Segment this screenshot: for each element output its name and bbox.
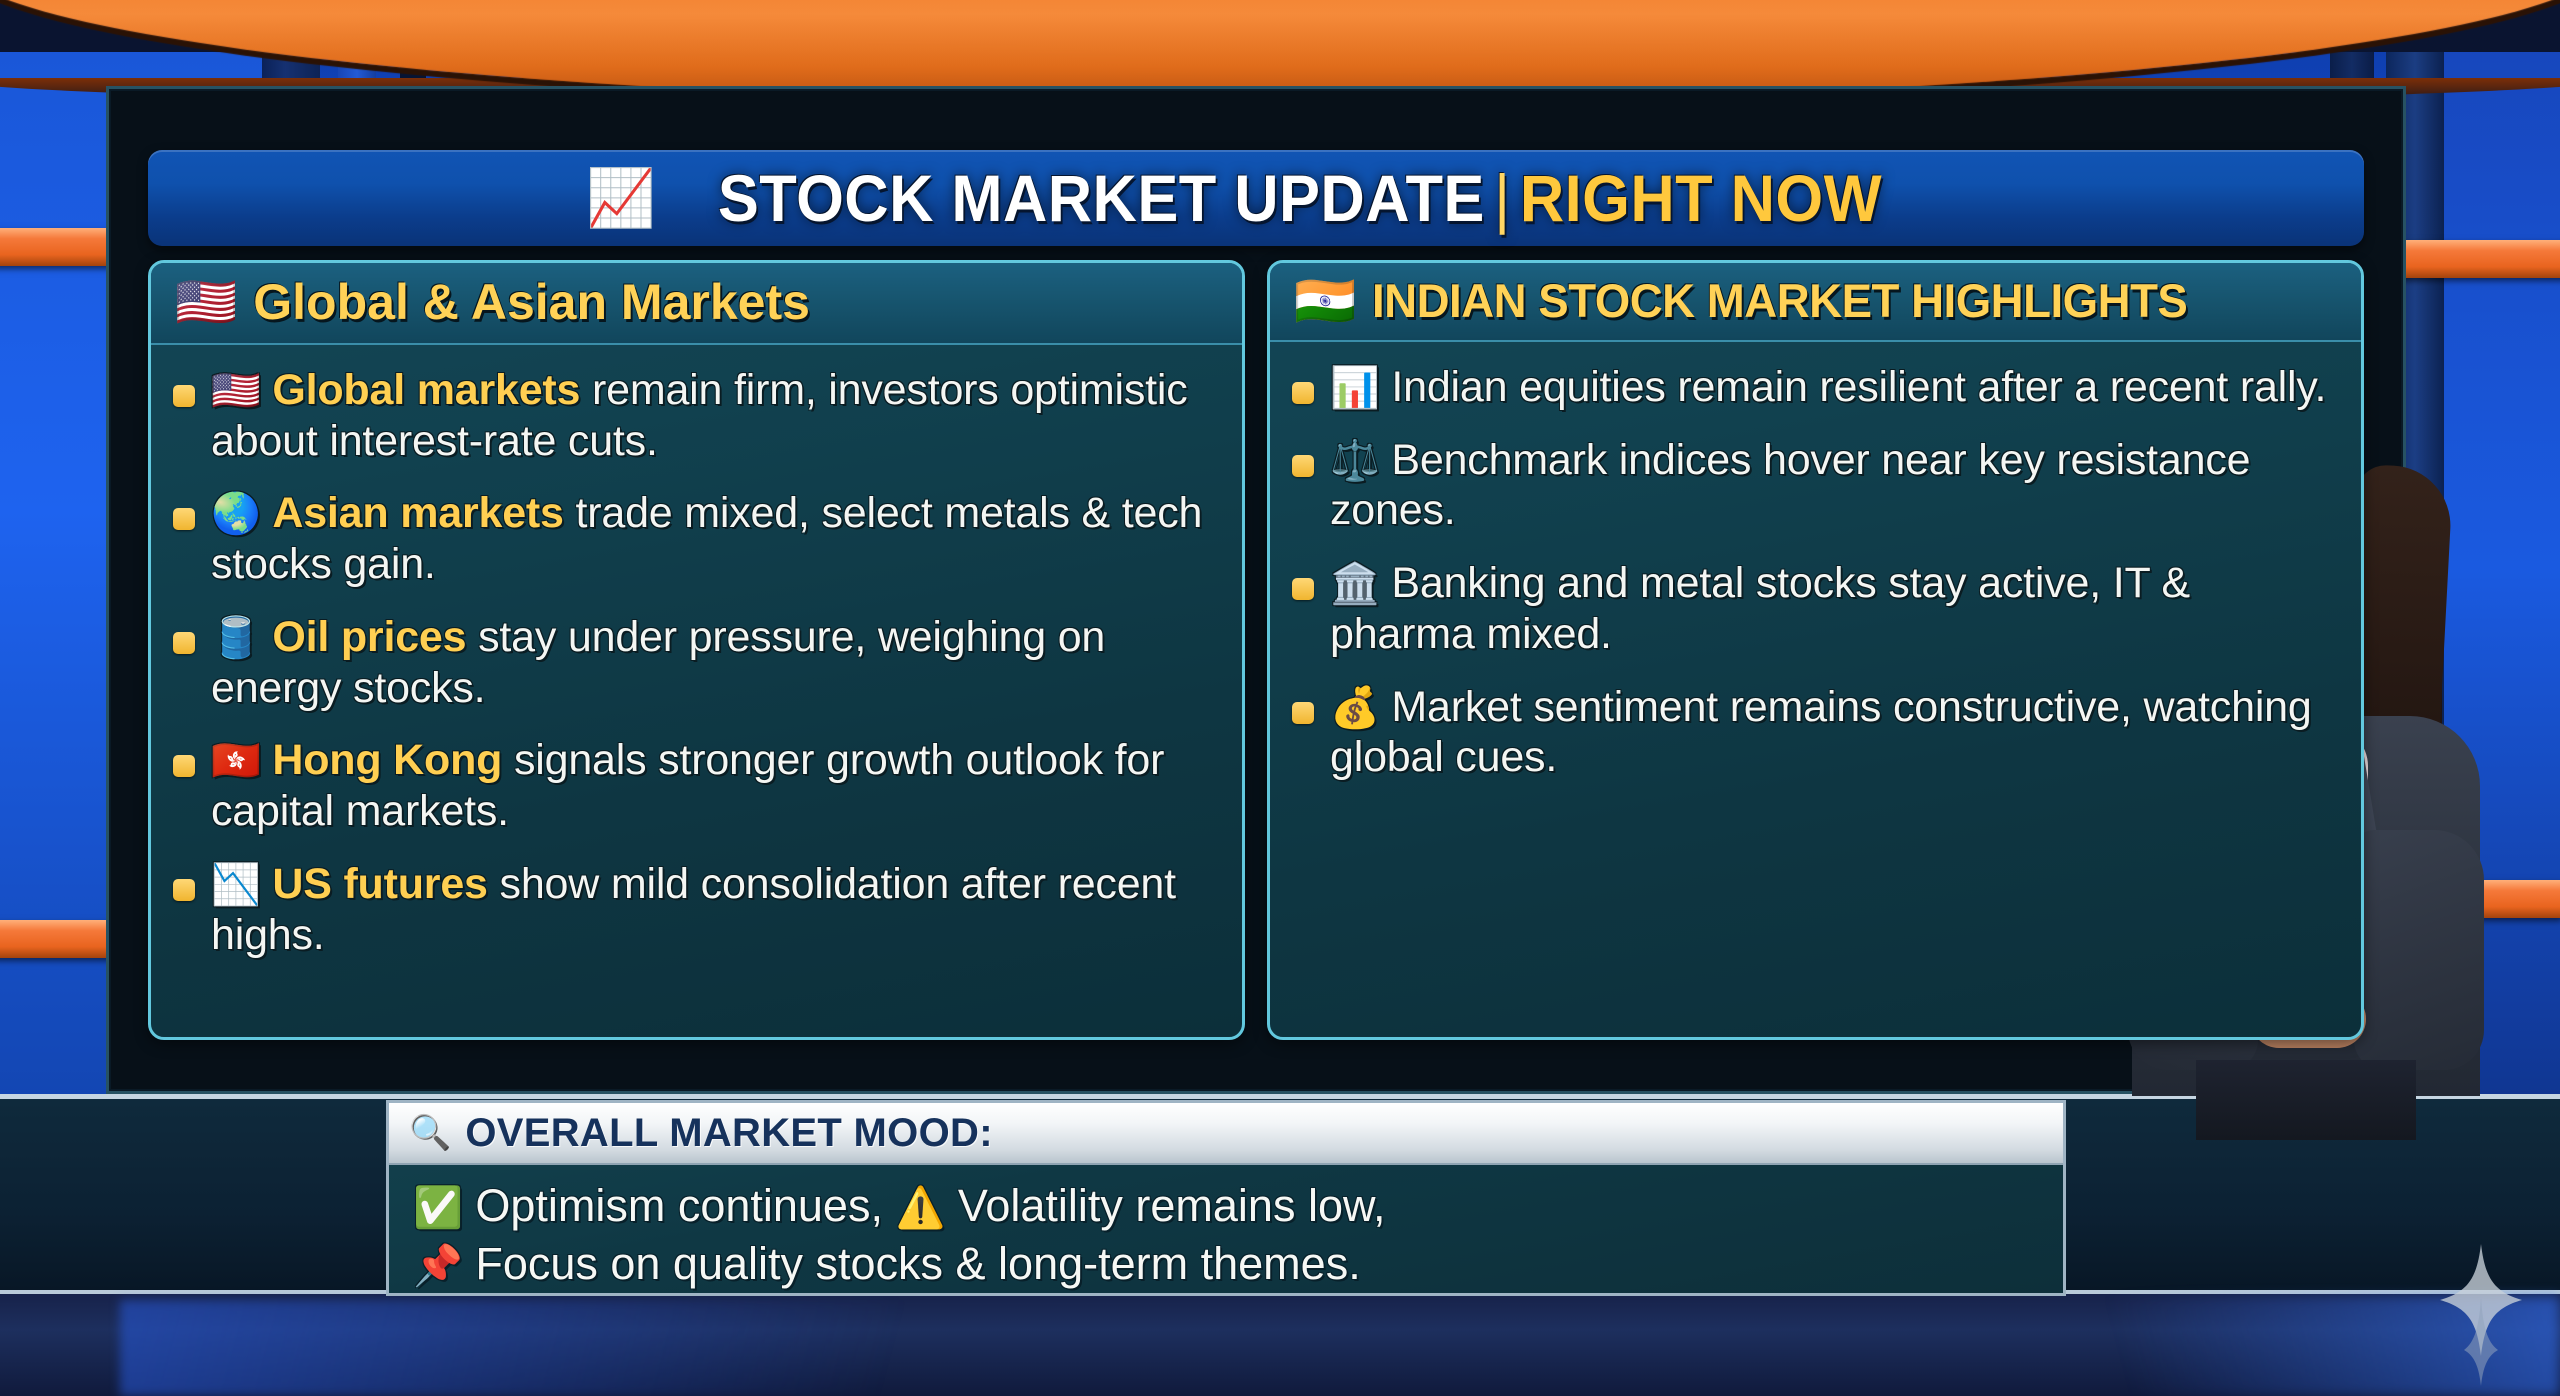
check-mark-icon: ✅ bbox=[413, 1186, 463, 1230]
bullet-marker bbox=[173, 508, 195, 530]
list-item-keyword: Asian markets bbox=[272, 489, 563, 537]
left-card-header: 🇺🇸 Global & Asian Markets bbox=[151, 263, 1242, 345]
bullet-marker bbox=[1292, 382, 1314, 404]
list-item-text: 💰 Market sentiment remains constructive,… bbox=[1330, 682, 2339, 783]
bullet-marker bbox=[173, 879, 195, 901]
right-card-header: 🇮🇳 INDIAN STOCK MARKET HIGHLIGHTS bbox=[1270, 263, 2361, 342]
list-item: ⚖️ Benchmark indices hover near key resi… bbox=[1292, 435, 2339, 536]
bar-chart-icon: 📊 bbox=[1330, 366, 1380, 410]
india-flag-icon: 🇮🇳 bbox=[1294, 276, 1356, 326]
hong-kong-flag-icon: 🇭🇰 bbox=[211, 739, 261, 783]
bullet-marker bbox=[173, 385, 195, 407]
bullet-marker bbox=[173, 755, 195, 777]
balance-scale-icon: ⚖️ bbox=[1330, 439, 1380, 483]
list-item: 📊 Indian equities remain resilient after… bbox=[1292, 362, 2339, 413]
floor-light-streak bbox=[120, 1300, 1220, 1396]
list-item-keyword: Hong Kong bbox=[272, 736, 502, 784]
list-item-text: 🌏 Asian markets trade mixed, select meta… bbox=[211, 488, 1220, 589]
list-item-text: 🛢️ Oil prices stay under pressure, weigh… bbox=[211, 612, 1220, 713]
stock-market-graphic: 📈 STOCK MARKET UPDATE|RIGHT NOW 🇺🇸 Globa… bbox=[140, 150, 2372, 1060]
mood-heading: OVERALL MARKET MOOD: bbox=[465, 1111, 992, 1156]
page-title: STOCK MARKET UPDATE|RIGHT NOW bbox=[718, 160, 1882, 236]
left-card-bullet-list: 🇺🇸 Global markets remain firm, investors… bbox=[151, 345, 1242, 992]
list-item: 🇺🇸 Global markets remain firm, investors… bbox=[173, 365, 1220, 466]
mood-header: 🔍 OVERALL MARKET MOOD: bbox=[389, 1103, 2063, 1165]
list-item-text: ⚖️ Benchmark indices hover near key resi… bbox=[1330, 435, 2339, 536]
graphic-columns: 🇺🇸 Global & Asian Markets 🇺🇸 Global mark… bbox=[140, 260, 2372, 1040]
bullet-marker bbox=[1292, 578, 1314, 600]
us-flag-icon: 🇺🇸 bbox=[211, 369, 261, 413]
bullet-marker bbox=[173, 632, 195, 654]
list-item: 🌏 Asian markets trade mixed, select meta… bbox=[173, 488, 1220, 589]
presenter-lower-body bbox=[2196, 1060, 2416, 1140]
mood-line: 📌 Focus on quality stocks & long-term th… bbox=[413, 1235, 2039, 1293]
list-item-text: 🏛️ Banking and metal stocks stay active,… bbox=[1330, 558, 2339, 659]
list-item: 💰 Market sentiment remains constructive,… bbox=[1292, 682, 2339, 783]
title-highlight-text: RIGHT NOW bbox=[1520, 161, 1882, 235]
list-item-body: Banking and metal stocks stay active, IT… bbox=[1330, 559, 2190, 658]
title-main-text: STOCK MARKET UPDATE bbox=[718, 161, 1485, 235]
pushpin-icon: 📌 bbox=[413, 1244, 463, 1288]
mood-line-text: Volatility remains low, bbox=[958, 1180, 1386, 1231]
globe-icon: 🌏 bbox=[211, 492, 261, 536]
list-item-keyword: Global markets bbox=[272, 366, 580, 414]
list-item-text: 📊 Indian equities remain resilient after… bbox=[1330, 362, 2326, 413]
list-item: 🇭🇰 Hong Kong signals stronger growth out… bbox=[173, 735, 1220, 836]
magnifying-glass-icon: 🔍 bbox=[409, 1113, 451, 1153]
left-card-heading: Global & Asian Markets bbox=[253, 273, 810, 331]
bank-icon: 🏛️ bbox=[1330, 562, 1380, 606]
overall-market-mood-banner: 🔍 OVERALL MARKET MOOD: ✅ Optimism contin… bbox=[386, 1100, 2066, 1296]
right-card-heading: INDIAN STOCK MARKET HIGHLIGHTS bbox=[1372, 273, 2187, 328]
bullet-marker bbox=[1292, 455, 1314, 477]
graphic-title-bar: 📈 STOCK MARKET UPDATE|RIGHT NOW bbox=[148, 150, 2364, 246]
money-bag-icon: 💰 bbox=[1330, 686, 1380, 730]
list-item: 🏛️ Banking and metal stocks stay active,… bbox=[1292, 558, 2339, 659]
right-card-bullet-list: 📊 Indian equities remain resilient after… bbox=[1270, 342, 2361, 815]
list-item-text: 🇺🇸 Global markets remain firm, investors… bbox=[211, 365, 1220, 466]
oil-drum-icon: 🛢️ bbox=[211, 616, 261, 660]
title-separator: | bbox=[1485, 161, 1520, 235]
list-item-text: 🇭🇰 Hong Kong signals stronger growth out… bbox=[211, 735, 1220, 836]
list-item-body: Market sentiment remains constructive, w… bbox=[1330, 683, 2312, 782]
global-asian-markets-card: 🇺🇸 Global & Asian Markets 🇺🇸 Global mark… bbox=[148, 260, 1245, 1040]
bullet-marker bbox=[1292, 702, 1314, 724]
list-item-body: Indian equities remain resilient after a… bbox=[1391, 363, 2326, 411]
warning-icon: ⚠️ bbox=[895, 1186, 945, 1230]
indian-market-highlights-card: 🇮🇳 INDIAN STOCK MARKET HIGHLIGHTS 📊 Indi… bbox=[1267, 260, 2364, 1040]
mood-body: ✅ Optimism continues, ⚠️ Volatility rema… bbox=[389, 1165, 2063, 1292]
list-item-keyword: US futures bbox=[272, 860, 487, 908]
presenter-arm bbox=[2354, 830, 2484, 1070]
list-item: 🛢️ Oil prices stay under pressure, weigh… bbox=[173, 612, 1220, 713]
mood-line-text: Optimism continues, bbox=[475, 1180, 883, 1231]
screen: 📈 STOCK MARKET UPDATE|RIGHT NOW 🇺🇸 Globa… bbox=[0, 0, 2560, 1396]
chart-decreasing-icon: 📉 bbox=[211, 863, 261, 907]
mood-line-text: Focus on quality stocks & long-term them… bbox=[475, 1238, 1360, 1289]
us-flag-icon: 🇺🇸 bbox=[175, 277, 237, 327]
list-item: 📉 US futures show mild consolidation aft… bbox=[173, 859, 1220, 960]
list-item-body: Benchmark indices hover near key resista… bbox=[1330, 436, 2250, 535]
list-item-text: 📉 US futures show mild consolidation aft… bbox=[211, 859, 1220, 960]
floor-light-streak bbox=[1980, 1296, 2560, 1396]
chart-increasing-icon: 📈 bbox=[586, 170, 656, 226]
mood-line: ✅ Optimism continues, ⚠️ Volatility rema… bbox=[413, 1177, 2039, 1235]
list-item-keyword: Oil prices bbox=[272, 613, 466, 661]
